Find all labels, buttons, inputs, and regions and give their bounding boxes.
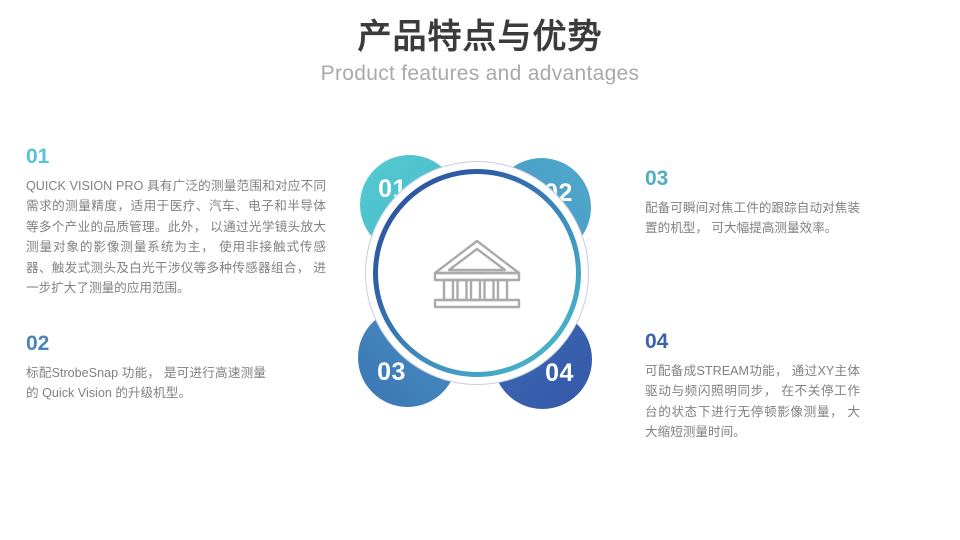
center-diagram: 01 02 03 04 [340,148,610,418]
feature-body-02: 标配StrobeSnap 功能， 是可进行高速测量的 Quick Vision … [26,363,266,404]
feature-body-01: QUICK VISION PRO 具有广泛的测量范围和对应不同需求的测量精度，适… [26,176,326,298]
feature-block-01: 01 QUICK VISION PRO 具有广泛的测量范围和对应不同需求的测量精… [26,145,326,298]
diagram-petal-label-03: 03 [377,358,406,387]
diagram-center-disc [378,174,576,372]
bank-building-icon [431,235,523,311]
feature-number-04: 04 [645,330,860,353]
feature-block-04: 04 可配备成STREAM功能， 通过XY主体驱动与频闪照明同步， 在不关停工作… [645,330,860,443]
feature-block-03: 03 配备可瞬间对焦工件的跟踪自动对焦装置的机型， 可大幅提高测量效率。 [645,167,860,239]
feature-number-03: 03 [645,167,860,190]
diagram-petal-label-04: 04 [545,359,574,388]
page-title: 产品特点与优势 [0,18,960,57]
page-subtitle: Product features and advantages [0,61,960,86]
feature-number-02: 02 [26,332,266,355]
page-header: 产品特点与优势 Product features and advantages [0,0,960,86]
feature-body-03: 配备可瞬间对焦工件的跟踪自动对焦装置的机型， 可大幅提高测量效率。 [645,198,860,239]
feature-block-02: 02 标配StrobeSnap 功能， 是可进行高速测量的 Quick Visi… [26,332,266,404]
feature-body-04: 可配备成STREAM功能， 通过XY主体驱动与频闪照明同步， 在不关停工作台的状… [645,361,860,443]
diagram-inner-ring [373,169,581,377]
feature-number-01: 01 [26,145,326,168]
